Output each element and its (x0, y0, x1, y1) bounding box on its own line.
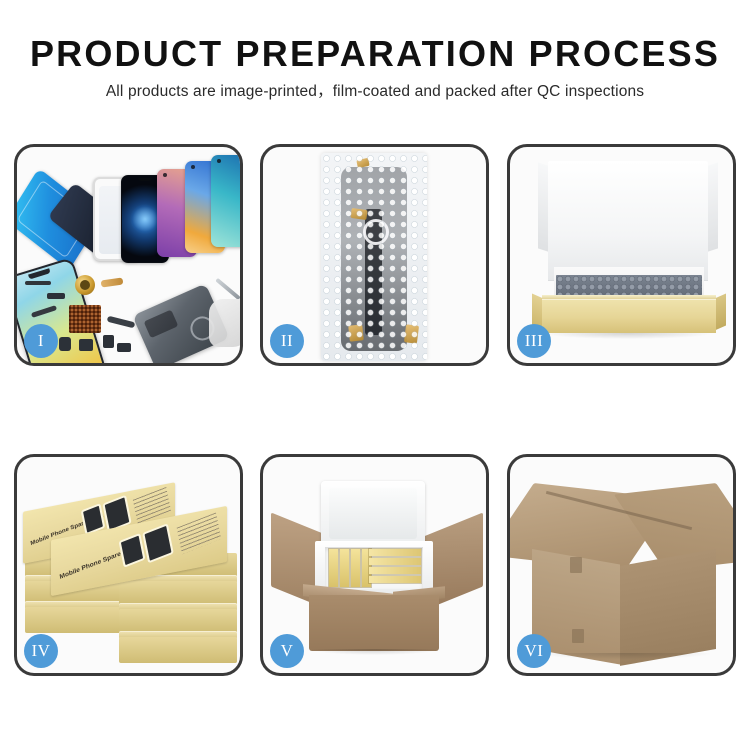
box-stack: Mobile Phone Spare Parts Mobile Phone Sp… (21, 475, 237, 661)
cable-coil (363, 219, 389, 245)
process-step-grid: I II (14, 144, 736, 676)
process-step-3: III (507, 144, 736, 366)
carton-tab (572, 629, 584, 643)
camera-lens (217, 159, 221, 163)
yellow-box (369, 558, 421, 565)
yellow-box (369, 576, 421, 583)
product-photo (83, 506, 103, 533)
box-lid (548, 161, 708, 281)
yellow-box (369, 567, 421, 574)
step-badge-1: I (24, 324, 58, 358)
tweezers (215, 278, 241, 300)
small-part (47, 293, 65, 299)
step-badge-5: V (270, 634, 304, 668)
process-step-5: V (260, 454, 489, 676)
yellow-box (340, 549, 349, 587)
teal-phone (211, 155, 243, 247)
chip-grid-part (69, 305, 101, 333)
carton-tab (570, 557, 582, 573)
header: PRODUCT PREPARATION PROCESS All products… (0, 34, 750, 102)
stacked-box (119, 609, 237, 633)
tape-piece (404, 324, 419, 343)
bubble-wrap-bag (321, 153, 427, 361)
tape-piece (350, 208, 367, 220)
process-step-4: Mobile Phone Spare Parts Mobile Phone Sp… (14, 454, 243, 676)
notch (138, 178, 152, 181)
spec-text-lines (177, 512, 222, 554)
page-subtitle: All products are image-printed，film-coat… (0, 82, 750, 102)
stacked-box (119, 637, 237, 663)
drop-shadow (538, 653, 710, 659)
carton-side-face (620, 549, 716, 666)
process-step-6: VI (507, 454, 736, 676)
page-title: PRODUCT PREPARATION PROCESS (0, 34, 750, 74)
speaker-coil-part (75, 275, 95, 295)
gold-connector-part (101, 278, 124, 288)
small-part (59, 337, 71, 351)
product-photo (145, 526, 172, 561)
stacked-box (25, 607, 121, 633)
drop-shadow (311, 649, 439, 655)
small-part (79, 339, 93, 351)
yellow-box (329, 549, 338, 587)
product-photo (121, 536, 143, 566)
stacked-box (119, 581, 237, 605)
camera-lens (163, 173, 167, 177)
step-badge-2: II (270, 324, 304, 358)
process-step-2: II (260, 144, 489, 366)
drop-shadow (544, 333, 712, 339)
flex-cable-part (25, 281, 51, 285)
box-front-panel (542, 299, 716, 333)
small-part (117, 343, 131, 352)
process-step-1: I (14, 144, 243, 366)
product-preparation-infographic: PRODUCT PREPARATION PROCESS All products… (0, 0, 750, 750)
yellow-box (351, 549, 360, 587)
flex-cable-part (107, 316, 136, 329)
step-badge-3: III (517, 324, 551, 358)
hand (209, 299, 243, 347)
yellow-box (369, 549, 421, 556)
step-badge-6: VI (517, 634, 551, 668)
foam-lid (321, 481, 425, 547)
small-part (103, 335, 114, 348)
notch (28, 268, 51, 279)
tape-piece (348, 324, 364, 341)
step-badge-4: IV (24, 634, 58, 668)
camera-lens (191, 165, 195, 169)
carton-body (309, 595, 439, 651)
